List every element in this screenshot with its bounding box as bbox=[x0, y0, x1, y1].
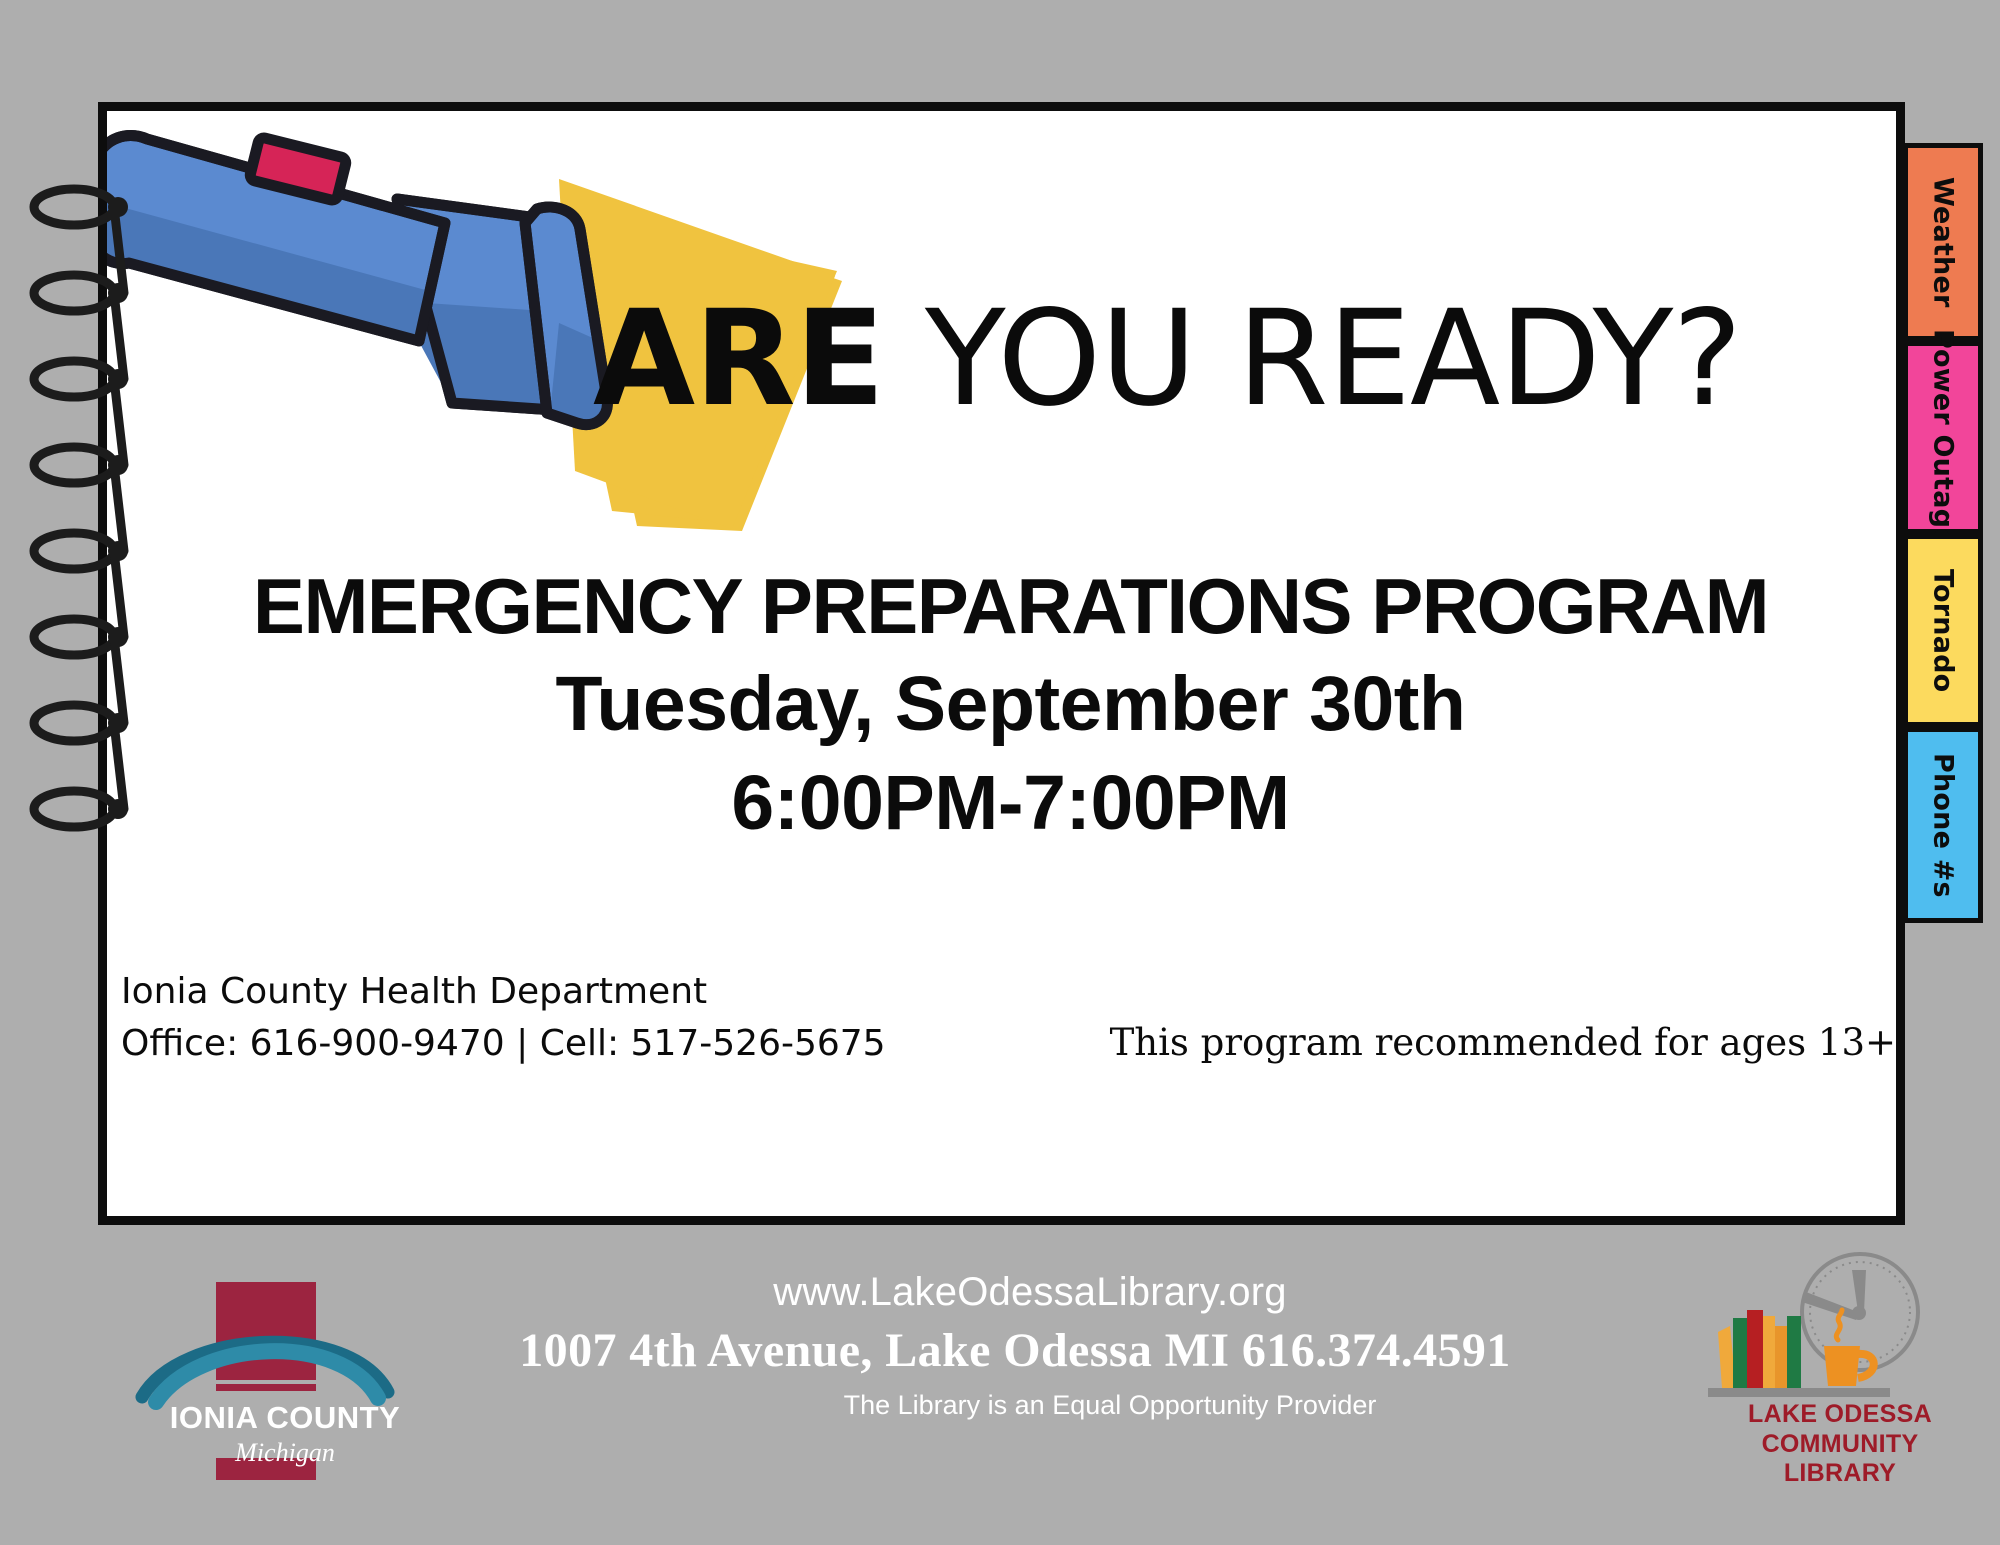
tab-power-outage-label: Power Outage bbox=[1928, 329, 1959, 547]
page-headline: ARE YOU READY? bbox=[593, 293, 1741, 425]
program-time: 6:00PM-7:00PM bbox=[107, 757, 1905, 849]
headline-bold: ARE bbox=[593, 282, 884, 436]
health-department-block: Ionia County Health Department Office: 6… bbox=[121, 966, 886, 1070]
tab-phone-numbers-label: Phone #s bbox=[1928, 753, 1959, 898]
age-recommendation: This program recommended for ages 13+ bbox=[1110, 1021, 1896, 1070]
headline-light: YOU READY? bbox=[884, 282, 1741, 436]
library-website[interactable]: www.LakeOdessaLibrary.org bbox=[60, 1270, 2000, 1315]
tab-power-outage[interactable]: Power Outage bbox=[1903, 341, 1983, 534]
footer-block: www.LakeOdessaLibrary.org 1007 4th Avenu… bbox=[0, 1270, 2000, 1421]
tab-tornado[interactable]: Tornado bbox=[1903, 534, 1983, 727]
poster-canvas: ARE YOU READY? EMERGENCY PREPARATIONS PR… bbox=[0, 0, 2000, 1545]
department-name: Ionia County Health Department bbox=[121, 966, 886, 1018]
equal-opportunity-note: The Library is an Equal Opportunity Prov… bbox=[220, 1390, 2000, 1421]
program-title: EMERGENCY PREPARATIONS PROGRAM bbox=[107, 563, 1905, 650]
department-phones: Office: 616-900-9470 | Cell: 517-526-567… bbox=[121, 1018, 886, 1070]
library-logo-line3: LIBRARY bbox=[1700, 1459, 1980, 1489]
ionia-logo-state: Michigan bbox=[120, 1438, 450, 1468]
library-logo-line2: COMMUNITY bbox=[1700, 1430, 1980, 1460]
notebook-page: ARE YOU READY? EMERGENCY PREPARATIONS PR… bbox=[98, 102, 1905, 1225]
tab-phone-numbers[interactable]: Phone #s bbox=[1903, 727, 1983, 923]
program-block: EMERGENCY PREPARATIONS PROGRAM Tuesday, … bbox=[107, 563, 1905, 849]
tab-tornado-label: Tornado bbox=[1928, 569, 1959, 692]
library-address: 1007 4th Avenue, Lake Odessa MI 616.374.… bbox=[30, 1323, 2000, 1378]
tab-weather[interactable]: Weather bbox=[1903, 143, 1983, 341]
contact-row: Ionia County Health Department Office: 6… bbox=[107, 966, 1905, 1070]
tab-weather-label: Weather bbox=[1928, 177, 1959, 308]
index-tabs: Weather Power Outage Tornado Phone #s bbox=[1903, 143, 1985, 903]
program-date: Tuesday, September 30th bbox=[107, 658, 1905, 750]
